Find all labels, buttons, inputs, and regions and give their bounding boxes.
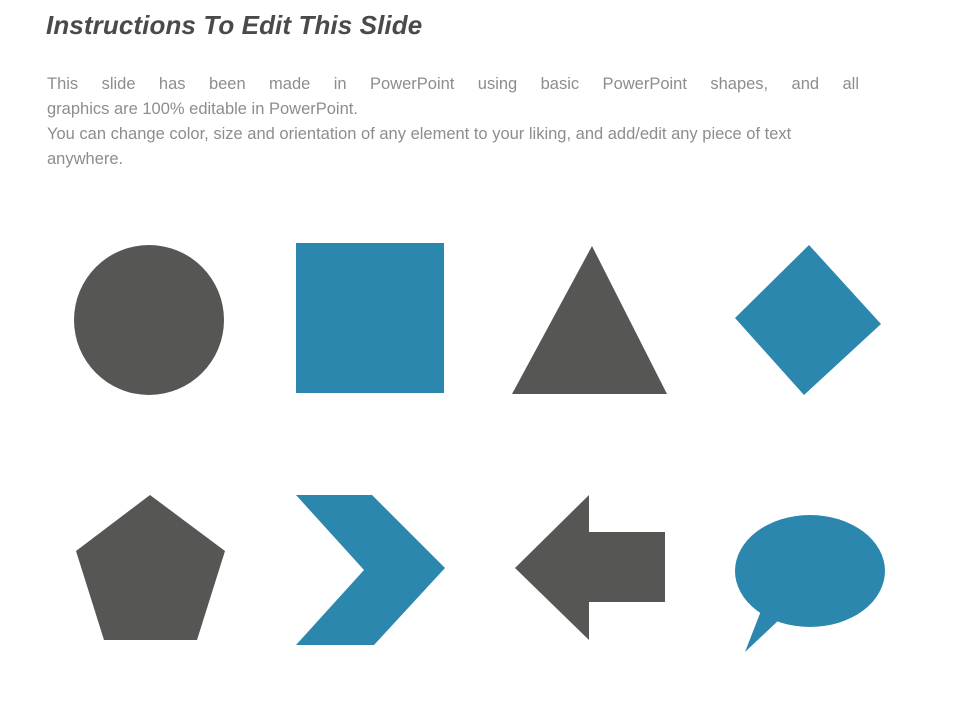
shape-chevron-right[interactable] bbox=[288, 490, 456, 655]
instructions-text-block: This slide has been made in PowerPoint u… bbox=[47, 72, 859, 172]
circle-icon[interactable] bbox=[70, 240, 230, 400]
shape-triangle[interactable] bbox=[506, 240, 676, 400]
instructions-paragraph-1-line-2: graphics are 100% editable in PowerPoint… bbox=[47, 97, 859, 122]
shape-diamond[interactable] bbox=[726, 240, 894, 400]
triangle-icon[interactable] bbox=[506, 240, 676, 400]
shape-circle[interactable] bbox=[70, 240, 238, 400]
instructions-paragraph-2: You can change color, size and orientati… bbox=[47, 122, 859, 172]
page-title: Instructions To Edit This Slide bbox=[46, 10, 422, 41]
shape-square[interactable] bbox=[288, 240, 456, 400]
chevron-right-icon[interactable] bbox=[288, 490, 456, 655]
pentagon-icon[interactable] bbox=[70, 490, 238, 655]
speech-bubble-icon[interactable] bbox=[726, 490, 894, 655]
slide-canvas: Instructions To Edit This Slide This sli… bbox=[0, 0, 960, 720]
diamond-icon[interactable] bbox=[726, 240, 894, 400]
square-icon[interactable] bbox=[288, 240, 448, 400]
instructions-paragraph-1-line-1: This slide has been made in PowerPoint u… bbox=[47, 72, 859, 97]
shape-pentagon[interactable] bbox=[70, 490, 238, 655]
shape-speech-bubble[interactable] bbox=[726, 490, 894, 655]
instructions-paragraph-1: This slide has been made in PowerPoint u… bbox=[47, 72, 859, 122]
instructions-paragraph-2-line-1: You can change color, size and orientati… bbox=[47, 125, 666, 143]
shape-arrow-left[interactable] bbox=[506, 490, 676, 655]
arrow-left-icon[interactable] bbox=[506, 490, 676, 655]
